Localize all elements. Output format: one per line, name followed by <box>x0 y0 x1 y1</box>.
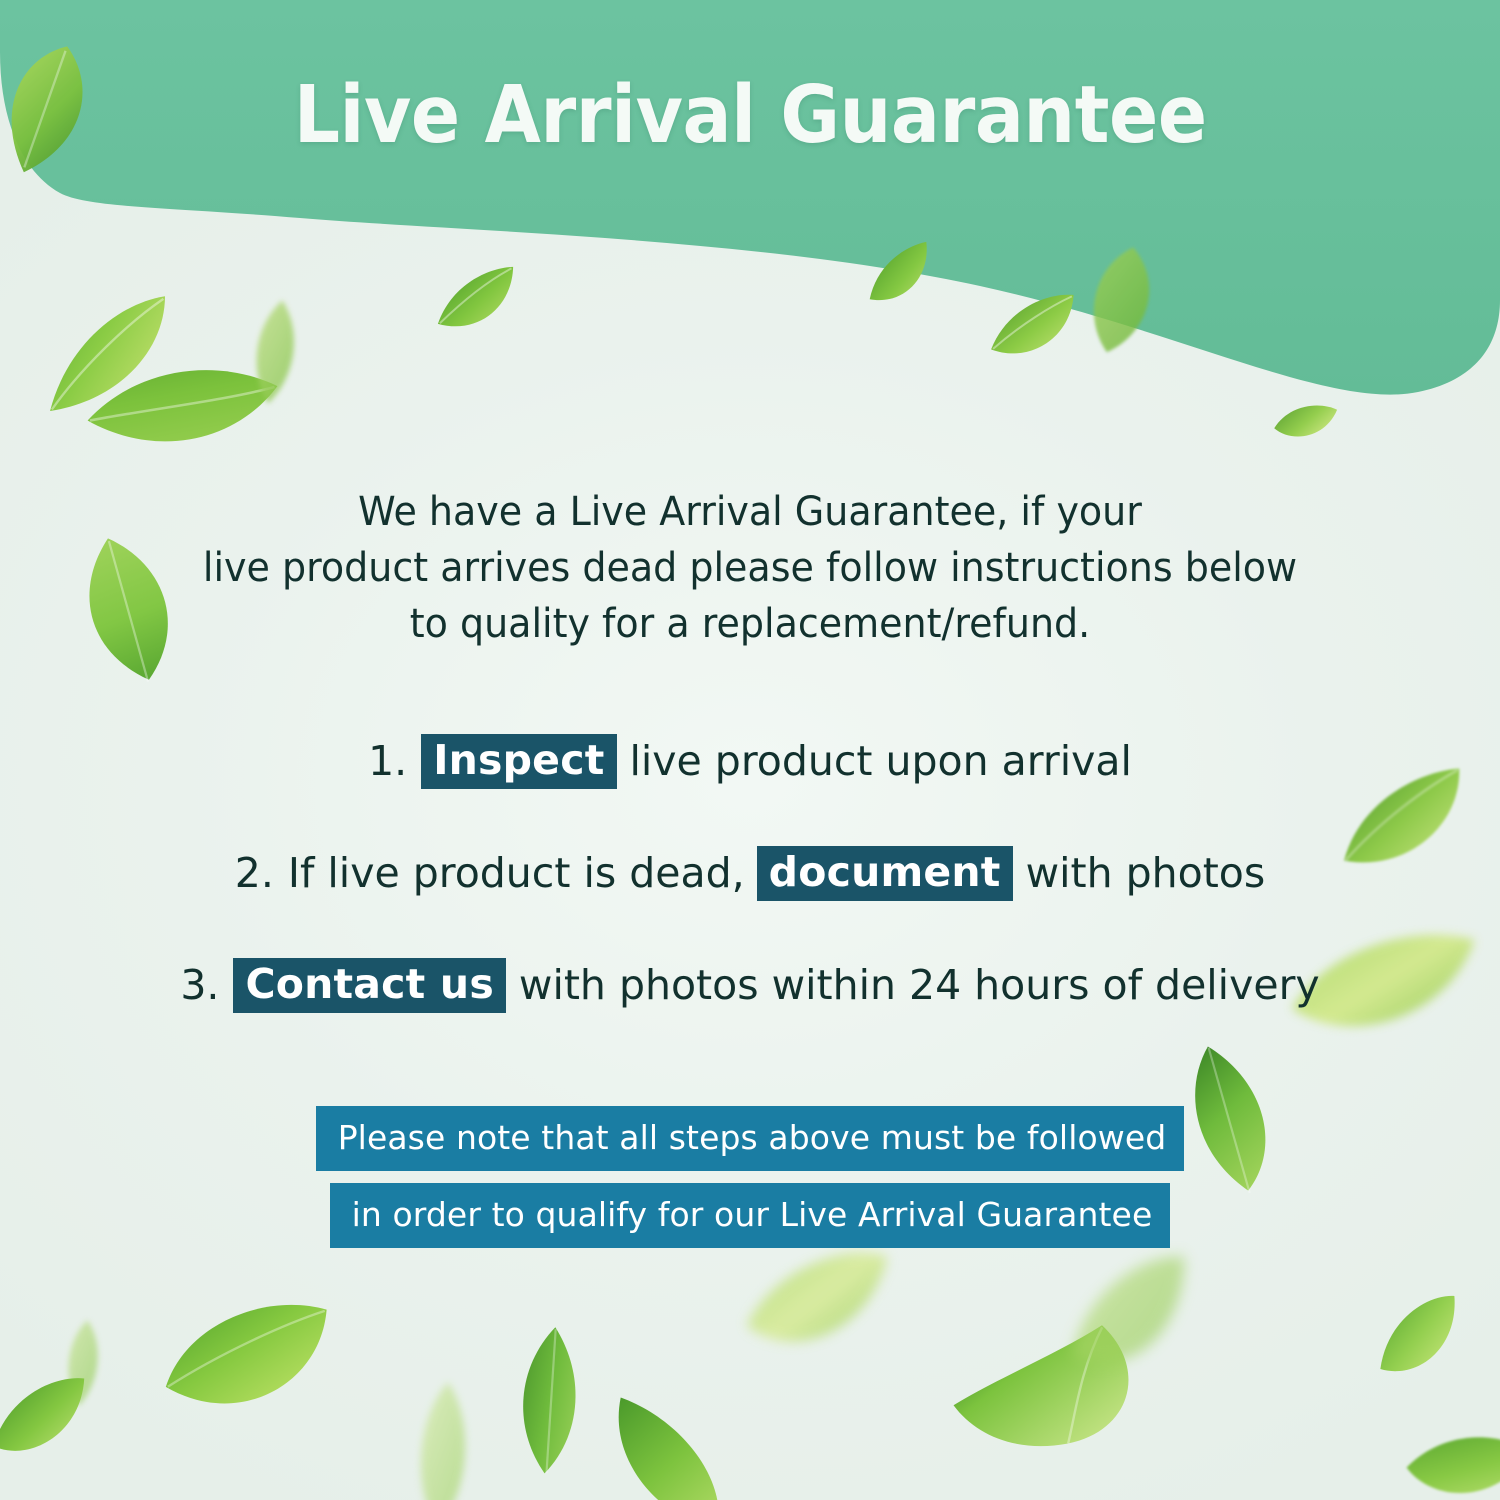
step-number: 2. <box>235 848 274 898</box>
intro-line-3: to quality for a replacement/refund. <box>180 596 1320 652</box>
step-text: with photos within 24 hours of delivery <box>519 960 1320 1010</box>
note-line-1: Please note that all steps above must be… <box>316 1106 1185 1171</box>
intro-line-1: We have a Live Arrival Guarantee, if you… <box>180 484 1320 540</box>
step-item: 1. Inspect live product upon arrival <box>0 705 1500 817</box>
live-arrival-guarantee-poster: Live Arrival Guarantee We have a Live Ar… <box>0 0 1500 1500</box>
step-number: 1. <box>368 736 407 786</box>
poster-content: We have a Live Arrival Guarantee, if you… <box>0 0 1500 1500</box>
intro-line-2: live product arrives dead please follow … <box>180 540 1320 596</box>
step-number: 3. <box>180 960 219 1010</box>
note-banner: Please note that all steps above must be… <box>0 1106 1500 1248</box>
note-line-2: in order to qualify for our Live Arrival… <box>330 1183 1171 1248</box>
step-text: with photos <box>1026 848 1266 898</box>
step-highlight-contact-us: Contact us <box>233 958 505 1013</box>
step-highlight-document: document <box>757 846 1013 901</box>
steps-list: 1. Inspect live product upon arrival 2. … <box>0 705 1500 1041</box>
step-highlight-inspect: Inspect <box>421 734 616 789</box>
step-text: live product upon arrival <box>630 736 1132 786</box>
step-text-before: If live product is dead, <box>288 848 745 898</box>
step-item: 2. If live product is dead, document wit… <box>0 817 1500 929</box>
intro-paragraph: We have a Live Arrival Guarantee, if you… <box>180 484 1320 652</box>
step-item: 3. Contact us with photos within 24 hour… <box>0 929 1500 1041</box>
